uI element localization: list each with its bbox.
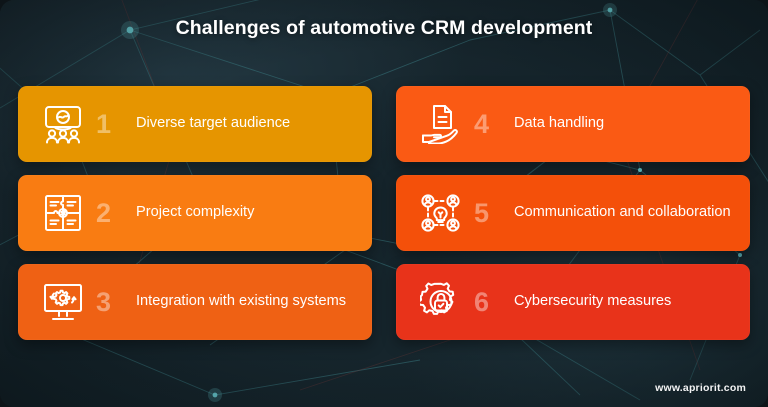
challenge-card-2[interactable]: 2 Project complexity	[18, 175, 372, 251]
gear-lock-icon	[410, 282, 472, 322]
challenge-label-5: Communication and collaboration	[514, 204, 750, 222]
infographic-canvas: Challenges of automotive CRM development	[0, 0, 768, 407]
challenge-number-6: 6	[474, 289, 504, 316]
website-footer: www.apriorit.com	[655, 382, 746, 394]
challenge-label-4: Data handling	[514, 115, 750, 133]
challenge-card-1[interactable]: 1 Diverse target audience	[18, 86, 372, 162]
challenge-card-5[interactable]: 5 Communication and collaboration	[396, 175, 750, 251]
monitor-gear-sync-icon	[32, 282, 94, 322]
challenge-number-4: 4	[474, 111, 504, 138]
challenge-label-2: Project complexity	[136, 204, 372, 222]
audience-presentation-icon	[32, 104, 94, 144]
challenge-card-6[interactable]: 6 Cybersecurity measures	[396, 264, 750, 340]
challenge-number-5: 5	[474, 200, 504, 227]
challenge-card-3[interactable]: 3 Integration with existing systems	[18, 264, 372, 340]
page-title: Challenges of automotive CRM development	[0, 17, 768, 40]
team-lightbulb-icon	[410, 193, 472, 233]
challenge-label-1: Diverse target audience	[136, 115, 372, 133]
hand-document-icon	[410, 104, 472, 144]
challenge-card-4[interactable]: 4 Data handling	[396, 86, 750, 162]
challenge-label-6: Cybersecurity measures	[514, 293, 750, 311]
challenge-number-2: 2	[96, 200, 126, 227]
challenge-number-3: 3	[96, 289, 126, 316]
challenge-label-3: Integration with existing systems	[136, 293, 372, 311]
challenge-card-grid: 1 Diverse target audience 4 Data handlin…	[18, 86, 750, 340]
puzzle-board-icon	[32, 193, 94, 233]
challenge-number-1: 1	[96, 111, 126, 138]
